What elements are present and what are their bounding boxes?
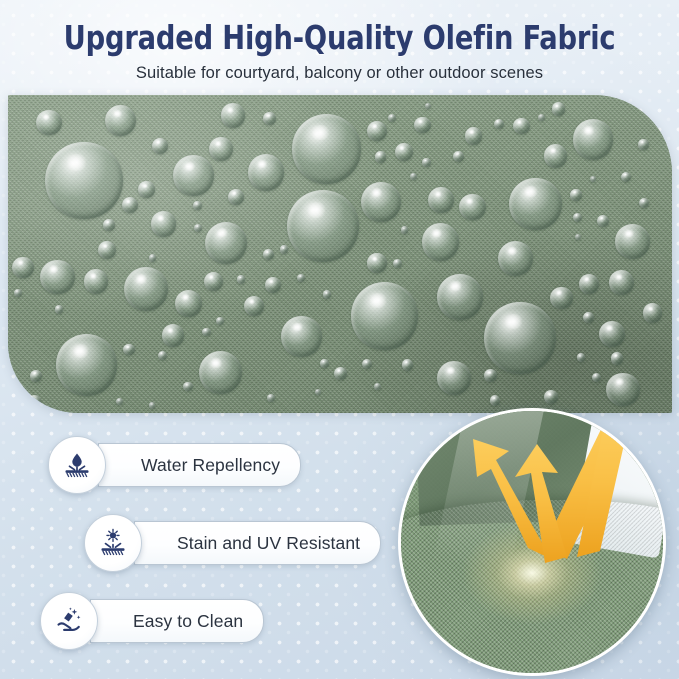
water-droplet: [649, 102, 661, 114]
water-droplet: [401, 226, 408, 233]
feature-icon-circle: [84, 514, 142, 572]
water-droplet: [351, 282, 419, 350]
water-droplet: [36, 110, 61, 135]
water-droplet: [151, 211, 176, 236]
feature-icon-circle: [48, 436, 106, 494]
water-droplet: [56, 334, 118, 396]
water-droplet: [175, 290, 202, 317]
water-droplet: [193, 201, 202, 210]
water-droplet: [425, 103, 431, 109]
water-droplet: [437, 361, 471, 395]
water-droplet: [205, 222, 247, 264]
water-droplet: [402, 359, 414, 371]
water-droplet: [573, 213, 582, 222]
water-droplet: [513, 118, 530, 135]
water-droplet: [490, 395, 500, 405]
water-droplet: [422, 223, 460, 261]
uv-ray-arrows: [401, 411, 663, 673]
water-droplet: [103, 219, 115, 231]
feature-label: Water Repellency: [141, 455, 280, 476]
water-droplet: [367, 121, 387, 141]
water-droplet: [84, 269, 108, 293]
water-droplet: [30, 370, 42, 382]
water-droplet: [494, 119, 504, 129]
water-droplet: [263, 249, 274, 260]
water-droplet: [638, 139, 648, 149]
water-droplet: [116, 398, 123, 405]
feature-label: Stain and UV Resistant: [177, 533, 360, 554]
water-droplet: [281, 316, 322, 357]
water-droplet: [202, 328, 211, 337]
feature-badge-easy-to-clean[interactable]: Easy to Clean: [30, 592, 420, 648]
water-droplet: [40, 260, 74, 294]
water-droplet: [484, 302, 556, 374]
water-droplet: [437, 274, 483, 320]
water-droplet: [621, 172, 631, 182]
water-droplet: [138, 181, 155, 198]
feature-pill: Water Repellency: [98, 443, 301, 487]
water-droplet: [149, 402, 155, 408]
water-droplet: [579, 274, 599, 294]
water-droplet: [221, 103, 246, 128]
water-droplet: [315, 389, 321, 395]
water-droplet: [292, 114, 362, 184]
water-droplet: [237, 275, 245, 283]
water-droplet: [183, 382, 192, 391]
water-droplet: [124, 267, 168, 311]
header-block: Upgraded High-Quality Olefin Fabric Suit…: [0, 0, 679, 88]
water-droplet: [453, 151, 464, 162]
water-droplet: [45, 142, 122, 219]
water-droplet: [393, 259, 402, 268]
water-droplet: [606, 373, 640, 407]
water-droplet-repel-icon: [60, 448, 94, 482]
water-droplet: [265, 277, 281, 293]
water-droplet: [570, 189, 582, 201]
water-droplet: [162, 324, 184, 346]
water-droplet: [643, 303, 662, 322]
page-subtitle: Suitable for courtyard, balcony or other…: [0, 64, 679, 83]
water-droplet: [428, 187, 454, 213]
water-droplet: [509, 178, 561, 230]
water-droplet: [552, 102, 565, 115]
hand-sparkle-clean-icon: [52, 604, 86, 638]
water-droplet: [123, 344, 135, 356]
water-droplet: [173, 155, 214, 196]
uv-reflection-closeup: [398, 408, 666, 676]
water-droplet: [609, 270, 634, 295]
water-droplet: [361, 182, 401, 222]
water-droplet: [367, 253, 386, 272]
feature-label: Easy to Clean: [133, 611, 243, 632]
water-droplet: [544, 144, 568, 168]
water-droplet: [575, 234, 581, 240]
water-droplet: [267, 394, 275, 402]
water-droplet: [248, 154, 284, 190]
water-droplet: [55, 305, 63, 313]
water-droplet: [263, 112, 276, 125]
fabric-swatch-panel: [8, 95, 672, 413]
water-droplet: [158, 351, 167, 360]
water-droplet: [374, 383, 381, 390]
water-droplet: [615, 224, 650, 259]
water-droplet: [320, 359, 328, 367]
water-droplet: [573, 119, 613, 159]
feature-icon-circle: [40, 592, 98, 650]
water-droplet: [592, 373, 601, 382]
water-droplet: [14, 289, 22, 297]
water-droplet: [611, 352, 623, 364]
water-droplet: [334, 367, 347, 380]
feature-badge-water-repellency[interactable]: Water Repellency: [38, 436, 420, 492]
water-droplet: [375, 151, 387, 163]
water-droplet: [395, 143, 413, 161]
water-droplet: [209, 137, 233, 161]
infographic-canvas: Upgraded High-Quality Olefin Fabric Suit…: [0, 0, 679, 679]
water-droplet: [287, 190, 359, 262]
sun-uv-resist-icon: [96, 526, 130, 560]
feature-badge-list: Water Repellency Stain and UV Resistant: [0, 436, 420, 670]
water-droplet: [538, 114, 545, 121]
water-droplet: [204, 272, 223, 291]
water-droplet: [152, 138, 168, 154]
page-title: Upgraded High-Quality Olefin Fabric: [27, 0, 652, 57]
feature-badge-stain-uv-resistant[interactable]: Stain and UV Resistant: [74, 514, 420, 570]
feature-pill: Easy to Clean: [90, 599, 264, 643]
water-droplet: [422, 158, 430, 166]
water-droplet: [414, 117, 430, 133]
water-droplet: [12, 257, 33, 278]
feature-pill: Stain and UV Resistant: [134, 521, 381, 565]
